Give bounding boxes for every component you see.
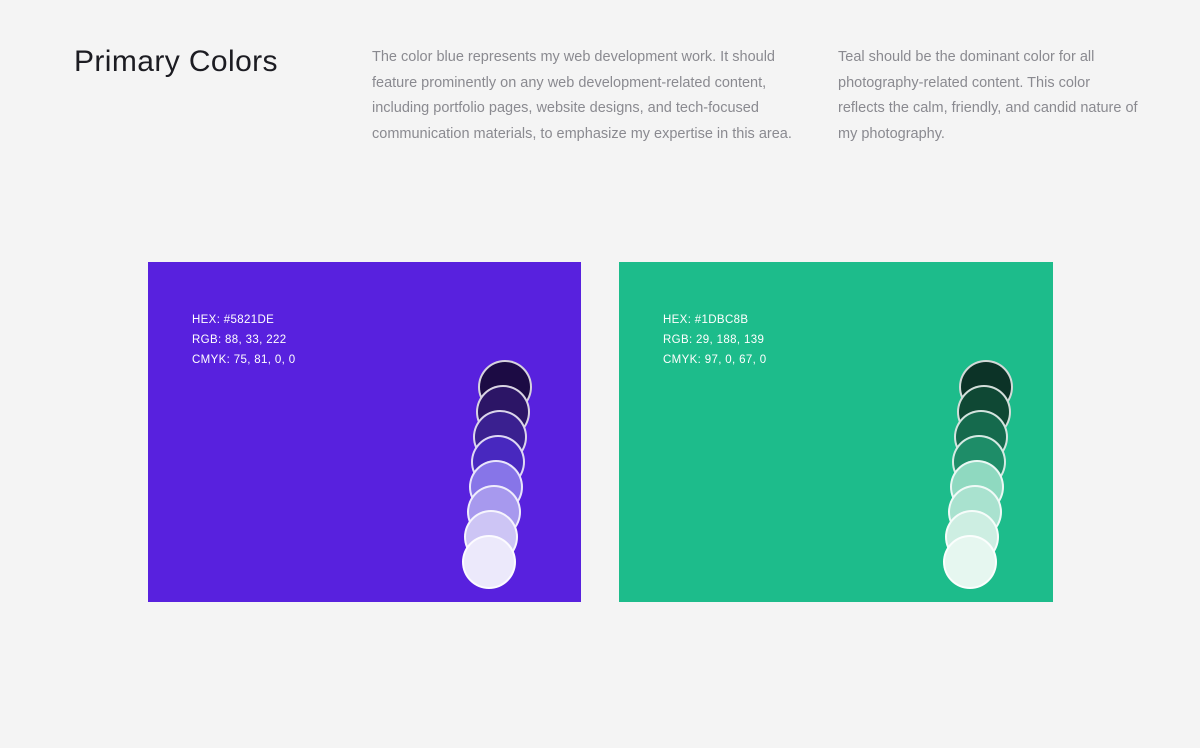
color-swatch-card-teal[interactable]: HEX: #1DBC8B RGB: 29, 188, 139 CMYK: 97,… <box>619 262 1053 602</box>
rgb-value-blue: RGB: 88, 33, 222 <box>192 330 295 350</box>
color-values-blue: HEX: #5821DE RGB: 88, 33, 222 CMYK: 75, … <box>192 310 295 370</box>
rgb-value-teal: RGB: 29, 188, 139 <box>663 330 766 350</box>
tint-circle <box>462 535 516 589</box>
color-values-teal: HEX: #1DBC8B RGB: 29, 188, 139 CMYK: 97,… <box>663 310 766 370</box>
tint-circle <box>943 535 997 589</box>
swatch-card-group: HEX: #5821DE RGB: 88, 33, 222 CMYK: 75, … <box>0 0 1200 748</box>
tint-circle-stack-teal <box>941 360 1021 590</box>
hex-value-teal: HEX: #1DBC8B <box>663 310 766 330</box>
cmyk-value-blue: CMYK: 75, 81, 0, 0 <box>192 350 295 370</box>
cmyk-value-teal: CMYK: 97, 0, 67, 0 <box>663 350 766 370</box>
hex-value-blue: HEX: #5821DE <box>192 310 295 330</box>
color-swatch-card-blue[interactable]: HEX: #5821DE RGB: 88, 33, 222 CMYK: 75, … <box>148 262 581 602</box>
tint-circle-stack-blue <box>460 360 540 590</box>
